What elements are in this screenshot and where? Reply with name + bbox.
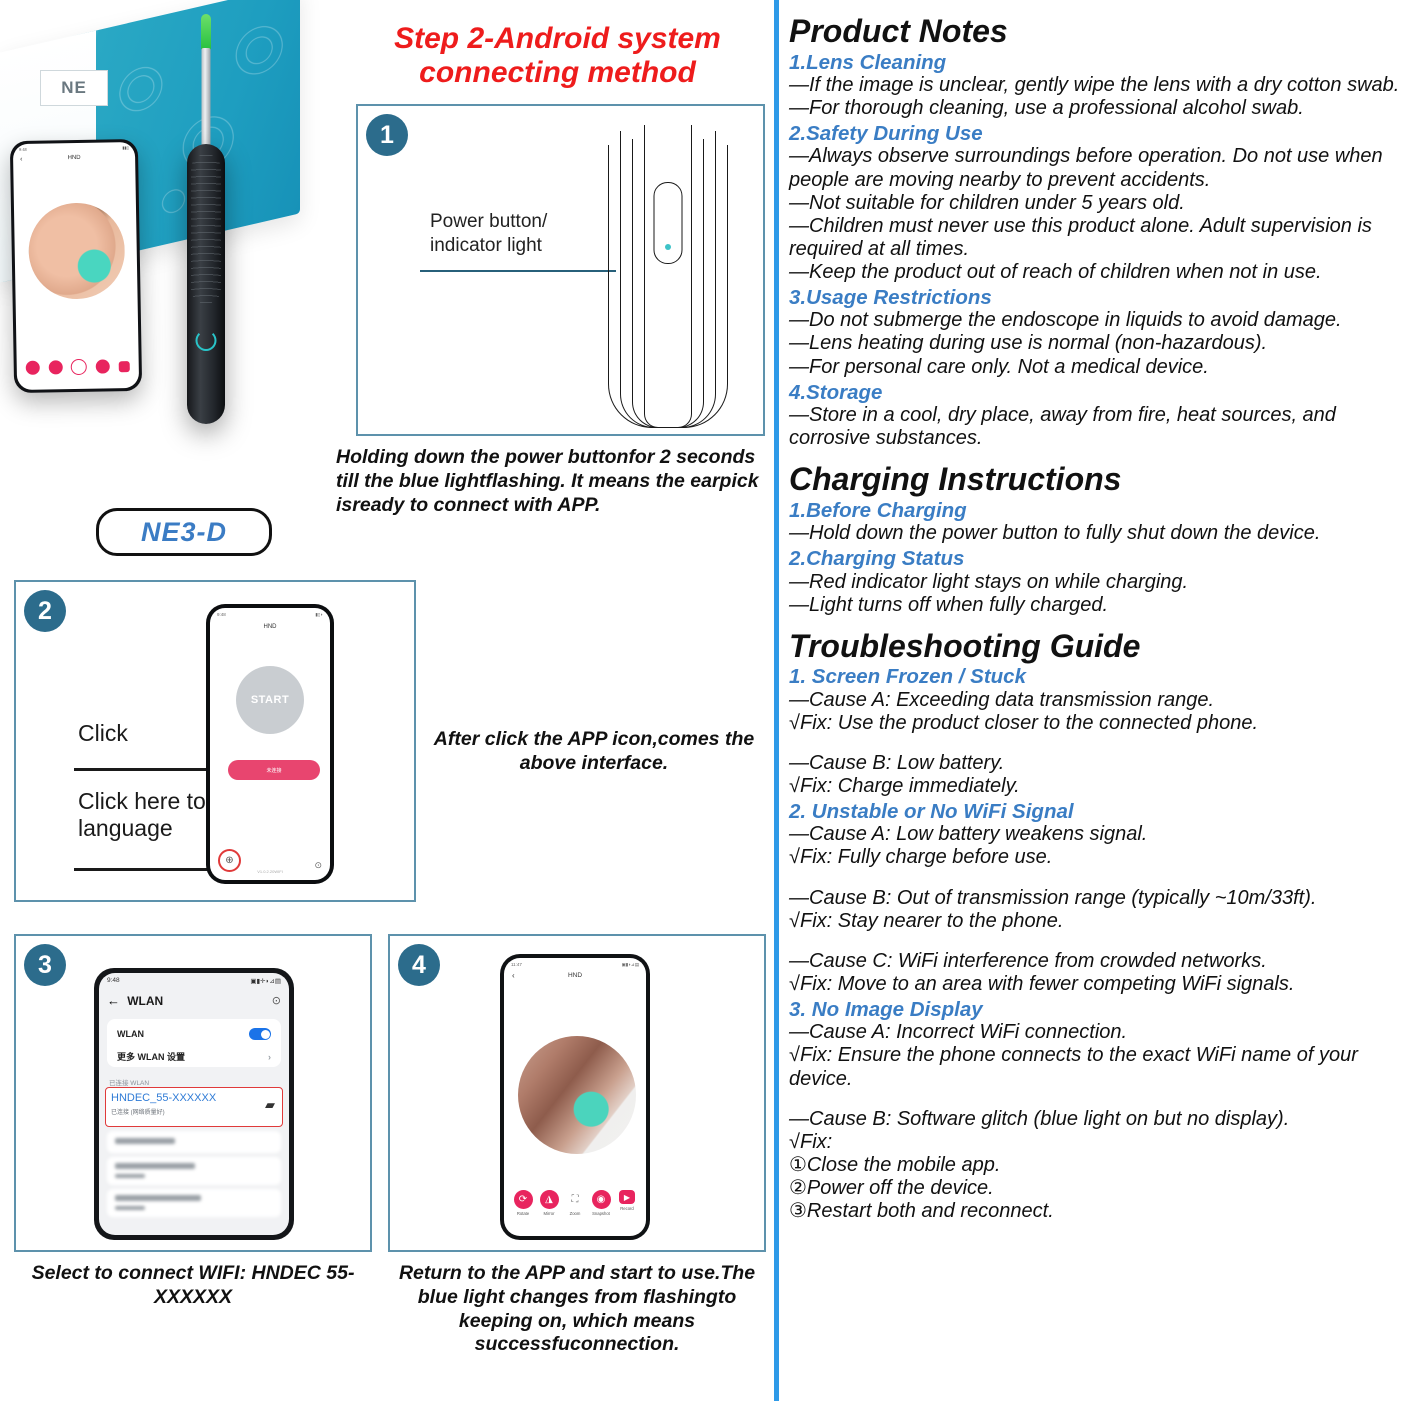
screen-title: WLAN — [127, 994, 163, 1008]
wifi-ssid-status: 已连接 (网络质量好) — [111, 1107, 165, 1116]
wifi-list-item[interactable] — [107, 1157, 281, 1185]
instruction-sheet: NE 9:48▮▮▯ ‹ HND — [0, 0, 1417, 1401]
rotate-icon: ⟳ — [514, 1190, 533, 1209]
body-line: —Light turns off when fully charged. — [789, 594, 1409, 617]
connected-section-label: 已连接 WLAN — [109, 1077, 149, 1087]
spacer — [789, 735, 1409, 752]
body-line: —Cause A: Low battery weakens signal. — [789, 823, 1409, 846]
connect-button[interactable]: 未连接 — [228, 760, 320, 780]
body-line: √Fix: Charge immediately. — [789, 775, 1409, 798]
subsection-heading: 2. Unstable or No WiFi Signal — [789, 800, 1409, 823]
body-line: —For personal care only. Not a medical d… — [789, 356, 1409, 379]
step-panel-4: 4 11:47▣▮◗⊿▤ ‹ HND ⟳Rotate ◮Mirror ⛶Zoom… — [388, 934, 766, 1252]
step-caption-3: Select to connect WIFI: HNDEC 55-XXXXXX — [14, 1262, 372, 1310]
subsection-heading: 3. No Image Display — [789, 998, 1409, 1021]
page-title: Step 2-Android system connecting method — [350, 22, 765, 89]
body-line: —Cause A: Exceeding data transmission ra… — [789, 689, 1409, 712]
step-caption-2: After click the APP icon,comes the above… — [424, 728, 764, 776]
device-outline-diagram — [598, 110, 738, 428]
earpick-device — [180, 6, 232, 456]
body-line: —Red indicator light stays on while char… — [789, 571, 1409, 594]
product-photo: NE 9:48▮▮▯ ‹ HND — [0, 0, 350, 490]
model-badge: NE3-D — [96, 508, 272, 556]
app-version: V1.0.2.20WIFI — [210, 869, 330, 874]
zoom-icon — [71, 359, 87, 375]
spacer — [789, 933, 1409, 950]
body-line: —Not suitable for children under 5 years… — [789, 192, 1409, 215]
body-line: √Fix: Fully charge before use. — [789, 846, 1409, 869]
wifi-list-item[interactable] — [107, 1131, 281, 1153]
subsection-heading: 1.Lens Cleaning — [789, 51, 1409, 74]
status-bar-3: 9:48▣▮✛◗⊿▤ — [107, 977, 281, 985]
outline-1 — [644, 125, 692, 428]
body-line: —Hold down the power button to fully shu… — [789, 522, 1409, 545]
wlan-toggle[interactable] — [249, 1028, 271, 1040]
step-badge-1: 1 — [366, 114, 408, 156]
body-line: —Cause B: Low battery. — [789, 752, 1409, 775]
record-button[interactable]: ▶Record — [614, 1190, 640, 1211]
wlan-settings-card: WLAN 更多 WLAN 设置› — [107, 1019, 281, 1067]
wifi-ssid[interactable]: HNDEC_55-XXXXXX — [111, 1092, 216, 1104]
power-button-shape — [654, 182, 683, 264]
subsection-heading: 2.Charging Status — [789, 547, 1409, 570]
body-line: ①Close the mobile app. — [789, 1154, 1409, 1177]
zoom-button[interactable]: ⛶Zoom — [562, 1190, 588, 1216]
subsection-heading: 4.Storage — [789, 381, 1409, 404]
mirror-icon: ◮ — [540, 1190, 559, 1209]
camera-icon: ◉ — [592, 1190, 611, 1209]
body-line: —Do not submerge the endoscope in liquid… — [789, 309, 1409, 332]
silicone-tip — [201, 14, 211, 50]
phone-mockup-hero: 9:48▮▮▯ ‹ HND — [10, 139, 142, 393]
section-title: Product Notes — [789, 14, 1409, 49]
status-bar-2: 9:48▮▯◗ — [217, 612, 323, 618]
step-caption-4: Return to the APP and start to use.The b… — [388, 1262, 766, 1357]
camera-toolbar: ⟳Rotate ◮Mirror ⛶Zoom ◉Snapshot ▶Record — [510, 1190, 640, 1216]
box-logo: NE — [40, 70, 108, 106]
body-line: —Always observe surroundings before oper… — [789, 145, 1409, 191]
rotate-button[interactable]: ⟳Rotate — [510, 1190, 536, 1216]
subsection-heading: 2.Safety During Use — [789, 122, 1409, 145]
body-line: —Store in a cool, dry place, away from f… — [789, 404, 1409, 450]
phone-mockup-wlan: 9:48▣▮✛◗⊿▤ ← WLAN ⊙ WLAN 更多 WLAN 设置› — [94, 968, 294, 1240]
ear-canal-view — [518, 1036, 636, 1154]
leader-line — [420, 270, 616, 272]
section-title: Troubleshooting Guide — [789, 629, 1409, 664]
handle-texture — [191, 154, 221, 304]
subsection-heading: 1.Before Charging — [789, 499, 1409, 522]
snapshot-button[interactable]: ◉Snapshot — [588, 1190, 614, 1216]
record-icon — [118, 361, 129, 372]
device-handle — [187, 144, 225, 424]
help-icon[interactable]: ⊙ — [272, 994, 281, 1007]
phone-mockup-live-view: 11:47▣▮◗⊿▤ ‹ HND ⟳Rotate ◮Mirror ⛶Zoom ◉… — [500, 954, 650, 1240]
left-column: NE 9:48▮▮▯ ‹ HND — [0, 0, 774, 1401]
body-line: —Lens heating during use is normal (non-… — [789, 332, 1409, 355]
body-line: ③Restart both and reconnect. — [789, 1200, 1409, 1223]
mirror-icon — [49, 360, 63, 374]
snapshot-icon — [96, 359, 110, 373]
indicator-light-dot — [665, 244, 671, 250]
power-button-icon — [196, 330, 217, 351]
body-line: —Children must never use this product al… — [789, 215, 1409, 261]
rotate-icon — [26, 361, 40, 375]
body-line: —If the image is unclear, gently wipe th… — [789, 74, 1409, 97]
step-badge-3: 3 — [24, 944, 66, 986]
app-title-4: HND — [504, 972, 646, 979]
body-line: √Fix: Ensure the phone connects to the e… — [789, 1044, 1409, 1090]
wifi-signal-icon: ▰ — [265, 1097, 275, 1113]
zoom-icon: ⛶ — [566, 1190, 585, 1209]
status-bar-4: 11:47▣▮◗⊿▤ — [511, 962, 639, 968]
annotation-click: Click — [78, 720, 128, 747]
body-line: —For thorough cleaning, use a profession… — [789, 97, 1409, 120]
body-line: ②Power off the device. — [789, 1177, 1409, 1200]
model-name: NE3-D — [141, 517, 227, 548]
step-caption-1: Holding down the power buttonfor 2 secon… — [336, 446, 776, 517]
step-badge-2: 2 — [24, 590, 66, 632]
start-button[interactable]: START — [236, 666, 304, 734]
app-title: HND — [13, 154, 135, 162]
step-panel-1: 1 Power button/ indicator light — [356, 104, 765, 436]
body-line: —Cause B: Out of transmission range (typ… — [789, 887, 1409, 910]
subsection-heading: 1. Screen Frozen / Stuck — [789, 665, 1409, 688]
wlan-toggle-row[interactable]: WLAN — [117, 1028, 271, 1040]
body-line: —Cause A: Incorrect WiFi connection. — [789, 1021, 1409, 1044]
app-toolbar — [22, 358, 134, 376]
step-badge-4: 4 — [398, 944, 440, 986]
power-button-label: Power button/ indicator light — [430, 210, 547, 258]
body-line: √Fix: Move to an area with fewer competi… — [789, 973, 1409, 996]
spacer — [789, 870, 1409, 887]
body-line: —Keep the product out of reach of childr… — [789, 261, 1409, 284]
body-line: √Fix: Stay nearer to the phone. — [789, 910, 1409, 933]
step-panel-2: 2 Click Click here to change the languag… — [14, 580, 416, 902]
wifi-list-item[interactable] — [107, 1189, 281, 1217]
wlan-header: ← WLAN ⊙ — [107, 993, 281, 1008]
step-panel-3: 3 9:48▣▮✛◗⊿▤ ← WLAN ⊙ WLAN — [14, 934, 372, 1252]
ear-photo — [28, 202, 126, 300]
body-line: —Cause C: WiFi interference from crowded… — [789, 950, 1409, 973]
leader-line-language — [74, 868, 222, 871]
record-icon: ▶ — [619, 1190, 635, 1204]
body-line: —Cause B: Software glitch (blue light on… — [789, 1108, 1409, 1131]
mirror-button[interactable]: ◮Mirror — [536, 1190, 562, 1216]
leader-line-click — [74, 768, 222, 771]
more-settings-row[interactable]: 更多 WLAN 设置› — [117, 1050, 271, 1063]
phone-mockup-start: 9:48▮▯◗ HND START 未连接 ⊕ ⊙ V1.0.2.20WIFI — [206, 604, 334, 884]
metal-rod — [202, 48, 211, 148]
right-column: Product Notes1.Lens Cleaning—If the imag… — [779, 0, 1417, 1401]
section-title: Charging Instructions — [789, 462, 1409, 497]
subsection-heading: 3.Usage Restrictions — [789, 286, 1409, 309]
body-line: √Fix: Use the product closer to the conn… — [789, 712, 1409, 735]
spacer — [789, 1091, 1409, 1108]
app-title-2: HND — [210, 624, 330, 630]
body-line: √Fix: — [789, 1131, 1409, 1154]
